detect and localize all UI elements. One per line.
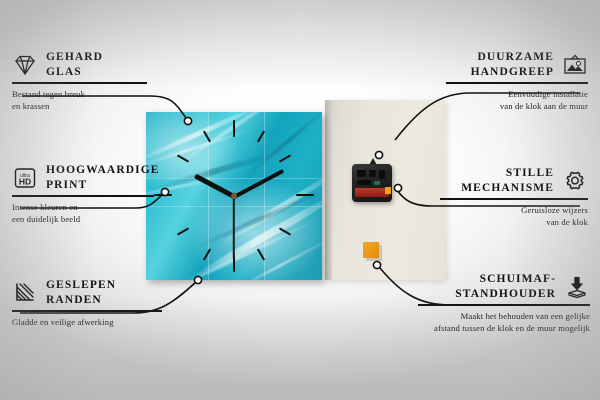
callout-rule — [12, 310, 162, 311]
callout-title-line2: GLAS — [46, 65, 103, 80]
callout-desc-line2: van de klok — [432, 216, 588, 228]
svg-text:HD: HD — [19, 176, 31, 186]
callout-title-line1: DUURZAME — [471, 50, 554, 65]
callout-title-line2: MECHANISME — [461, 181, 554, 196]
callout-title-line2: RANDEN — [46, 293, 116, 308]
callout-rule — [12, 195, 154, 196]
callout-title-line1: HOOGWAARDIGE — [46, 163, 160, 178]
callout-title-line1: SCHUIMAF- — [455, 272, 556, 287]
ultra-hd-icon: ultra HD — [12, 166, 38, 190]
foam-spacer — [363, 242, 379, 258]
clock-tick-8 — [177, 227, 189, 235]
callout-title-line2: HANDGREEP — [471, 65, 554, 80]
callout-title-line1: GESLEPEN — [46, 278, 116, 293]
callout-title-line2: PRINT — [46, 178, 160, 193]
callout-desc-line1: Gladde en veilige afwerking — [12, 316, 182, 328]
clock-hand-hub — [231, 193, 237, 199]
mechanism-battery — [355, 188, 389, 197]
callout-desc-line2: afstand tussen de klok en de muur mogeli… — [410, 322, 590, 334]
clock-tick-12 — [233, 120, 235, 137]
callout-stille-mechanisme: STILLE MECHANISME Geruisloze wijzers van… — [432, 166, 588, 228]
clock-tick-7 — [203, 248, 211, 260]
callout-geslepen-randen: GESLEPEN RANDEN Gladde en veilige afwerk… — [12, 278, 182, 328]
callout-hoogwaardige-print: ultra HD HOOGWAARDIGE PRINT Intense kleu… — [12, 163, 172, 225]
callout-desc-line2: een duidelijk beeld — [12, 213, 172, 225]
callout-schuimafstandhouder: SCHUIMAF- STANDHOUDER Maakt het behouden… — [410, 272, 590, 334]
clock-face — [146, 112, 322, 280]
clock-hand-second — [233, 196, 235, 258]
callout-desc-line1: Maakt het behouden van een gelijke — [410, 310, 590, 322]
callout-rule — [12, 82, 147, 83]
beveled-edge-icon — [12, 281, 38, 305]
callout-title-line1: STILLE — [461, 166, 554, 181]
mechanism-battery-terminal — [385, 187, 391, 194]
clock-tick-2 — [279, 154, 291, 162]
callout-desc-line2: en krassen — [12, 100, 162, 112]
callout-desc-line1: Eenvoudige installatie — [438, 88, 588, 100]
diamond-icon — [12, 53, 38, 77]
gear-icon — [562, 169, 588, 193]
callout-rule — [446, 82, 588, 83]
callout-title-line2: STANDHOUDER — [455, 287, 556, 302]
callout-desc-line1: Bestand tegen breuk — [12, 88, 162, 100]
callout-title-line1: GEHARD — [46, 50, 103, 65]
picture-frame-icon — [562, 53, 588, 77]
callout-gehard-glas: GEHARD GLAS Bestand tegen breuk en krass… — [12, 50, 162, 112]
callout-desc-line1: Geruisloze wijzers — [432, 204, 588, 216]
clock-hand-minute — [233, 168, 284, 198]
callout-duurzame-handgreep: DUURZAME HANDGREEP Eenvoudige installati… — [438, 50, 588, 112]
clock-tick-3 — [296, 194, 314, 196]
callout-desc-line1: Intense kleuren en — [12, 201, 172, 213]
callout-rule — [418, 304, 590, 305]
foam-spacer-icon — [564, 275, 590, 299]
infographic-canvas: GEHARD GLAS Bestand tegen breuk en krass… — [0, 0, 600, 400]
clock-back-panel-edge — [325, 100, 332, 280]
callout-desc-line2: van de klok aan de muur — [438, 100, 588, 112]
callout-rule — [440, 198, 588, 199]
